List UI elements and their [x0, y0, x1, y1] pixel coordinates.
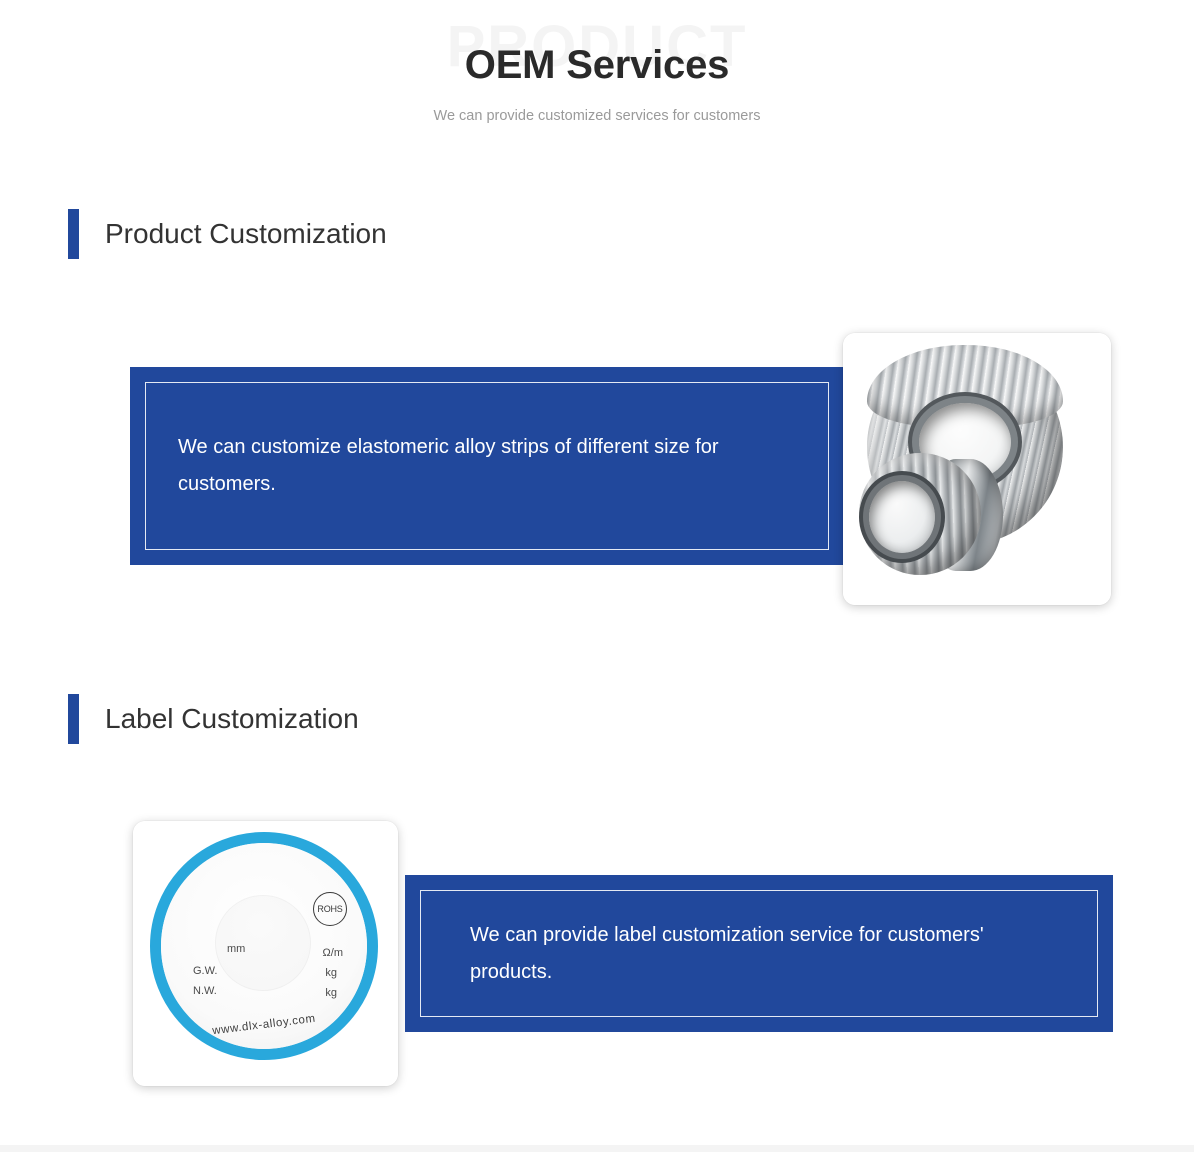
label-field-net-weight: N.W. [193, 985, 217, 997]
label-customization-panel: We can provide label customization servi… [405, 875, 1113, 1032]
page-title: OEM Services [0, 42, 1194, 88]
coil-illustration [843, 333, 1111, 605]
oem-services-page: PRODUCT OEM Services We can provide cust… [0, 0, 1194, 1152]
section-heading-label-customization: Label Customization [68, 694, 359, 744]
label-customization-text: We can provide label customization servi… [470, 917, 1030, 991]
label-sticker: ROHS mm G.W. N.W. Ω/m kg kg www.dlx-allo… [150, 832, 378, 1060]
section-heading-product-customization: Product Customization [68, 209, 387, 259]
coil-small-bore [869, 481, 935, 553]
label-field-resistance: Ω/m [323, 947, 343, 959]
footer-divider [0, 1145, 1194, 1152]
heading-accent-bar [68, 209, 79, 259]
section-heading-label: Label Customization [105, 705, 359, 733]
page-header: PRODUCT OEM Services We can provide cust… [0, 0, 1194, 150]
alloy-strip-coils-photo [843, 333, 1111, 605]
product-customization-text: We can customize elastomeric alloy strip… [178, 429, 796, 503]
label-illustration: ROHS mm G.W. N.W. Ω/m kg kg www.dlx-allo… [133, 821, 398, 1086]
label-field-kg-net: kg [325, 987, 337, 999]
heading-accent-bar [68, 694, 79, 744]
label-field-kg-gross: kg [325, 967, 337, 979]
label-field-gross-weight: G.W. [193, 965, 217, 977]
section-heading-label: Product Customization [105, 220, 387, 248]
round-product-label-photo: ROHS mm G.W. N.W. Ω/m kg kg www.dlx-allo… [133, 821, 398, 1086]
product-customization-panel: We can customize elastomeric alloy strip… [130, 367, 844, 565]
label-field-mm: mm [227, 943, 245, 955]
page-subtitle: We can provide customized services for c… [0, 108, 1194, 124]
rohs-icon: ROHS [313, 892, 347, 926]
